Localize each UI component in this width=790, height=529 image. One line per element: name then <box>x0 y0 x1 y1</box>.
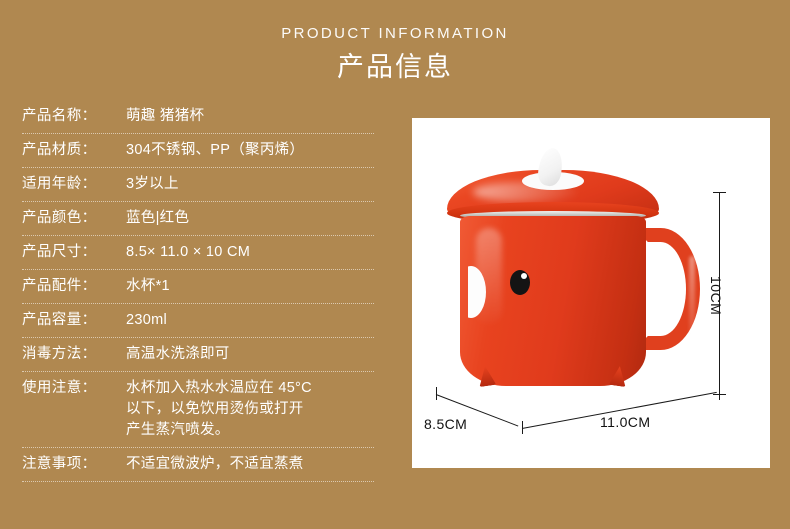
spec-row: 产品配件：水杯*1 <box>22 270 374 304</box>
mug-body <box>460 216 646 386</box>
spec-value: 水杯加入热水水温应在 45°C以下，以免饮用烫伤或打开产生蒸汽喷发。 <box>126 378 374 441</box>
spec-label: 产品名称： <box>22 106 126 127</box>
spec-label: 注意事项： <box>22 454 126 475</box>
spec-label: 产品颜色： <box>22 208 126 229</box>
product-photo: 10CM 8.5CM 11.0CM <box>412 118 770 468</box>
spec-label: 产品尺寸： <box>22 242 126 263</box>
spec-row: 产品尺寸：8.5× 11.0 × 10 CM <box>22 236 374 270</box>
spec-row: 产品容量：230ml <box>22 304 374 338</box>
spec-value: 3岁以上 <box>126 174 374 195</box>
spec-label: 产品容量： <box>22 310 126 331</box>
spec-row: 消毒方法：高温水洗涤即可 <box>22 338 374 372</box>
height-dimension-cap-top <box>713 192 726 193</box>
page-title: 产品信息 <box>0 54 790 81</box>
width-dimension-cap <box>522 421 523 434</box>
spec-value: 不适宜微波炉，不适宜蒸煮 <box>126 454 374 475</box>
spec-value: 蓝色|红色 <box>126 208 374 229</box>
content-area: 产品名称：萌趣 猪猪杯产品材质：304不锈钢、PP（聚丙烯）适用年龄：3岁以上产… <box>0 100 790 520</box>
spec-value: 萌趣 猪猪杯 <box>126 106 374 127</box>
spec-value: 水杯*1 <box>126 276 374 297</box>
spec-value: 8.5× 11.0 × 10 CM <box>126 242 374 263</box>
width-dimension-label: 11.0CM <box>600 414 650 430</box>
spec-label: 产品材质： <box>22 140 126 161</box>
height-dimension-label: 10CM <box>708 276 724 315</box>
spec-label: 产品配件： <box>22 276 126 297</box>
pig-eye-icon <box>510 270 530 295</box>
spec-row: 产品名称：萌趣 猪猪杯 <box>22 100 374 134</box>
page-header: PRODUCT INFORMATION 产品信息 <box>0 0 790 81</box>
specification-list: 产品名称：萌趣 猪猪杯产品材质：304不锈钢、PP（聚丙烯）适用年龄：3岁以上产… <box>22 100 374 482</box>
spec-row: 产品材质：304不锈钢、PP（聚丙烯） <box>22 134 374 168</box>
spec-row: 产品颜色：蓝色|红色 <box>22 202 374 236</box>
width-dimension-cap-end <box>719 387 720 400</box>
header-english-title: PRODUCT INFORMATION <box>0 26 790 41</box>
product-image-panel: 10CM 8.5CM 11.0CM <box>412 118 770 468</box>
spec-row: 注意事项：不适宜微波炉，不适宜蒸煮 <box>22 448 374 482</box>
spec-label: 适用年龄： <box>22 174 126 195</box>
spec-label: 消毒方法： <box>22 344 126 365</box>
spec-row: 使用注意：水杯加入热水水温应在 45°C以下，以免饮用烫伤或打开产生蒸汽喷发。 <box>22 372 374 448</box>
depth-dimension-label: 8.5CM <box>424 416 467 432</box>
spec-value: 304不锈钢、PP（聚丙烯） <box>126 140 374 161</box>
spec-label: 使用注意： <box>22 378 126 399</box>
spec-value: 高温水洗涤即可 <box>126 344 374 365</box>
spec-row: 适用年龄：3岁以上 <box>22 168 374 202</box>
depth-dimension-cap <box>436 387 437 400</box>
spec-value: 230ml <box>126 310 374 331</box>
